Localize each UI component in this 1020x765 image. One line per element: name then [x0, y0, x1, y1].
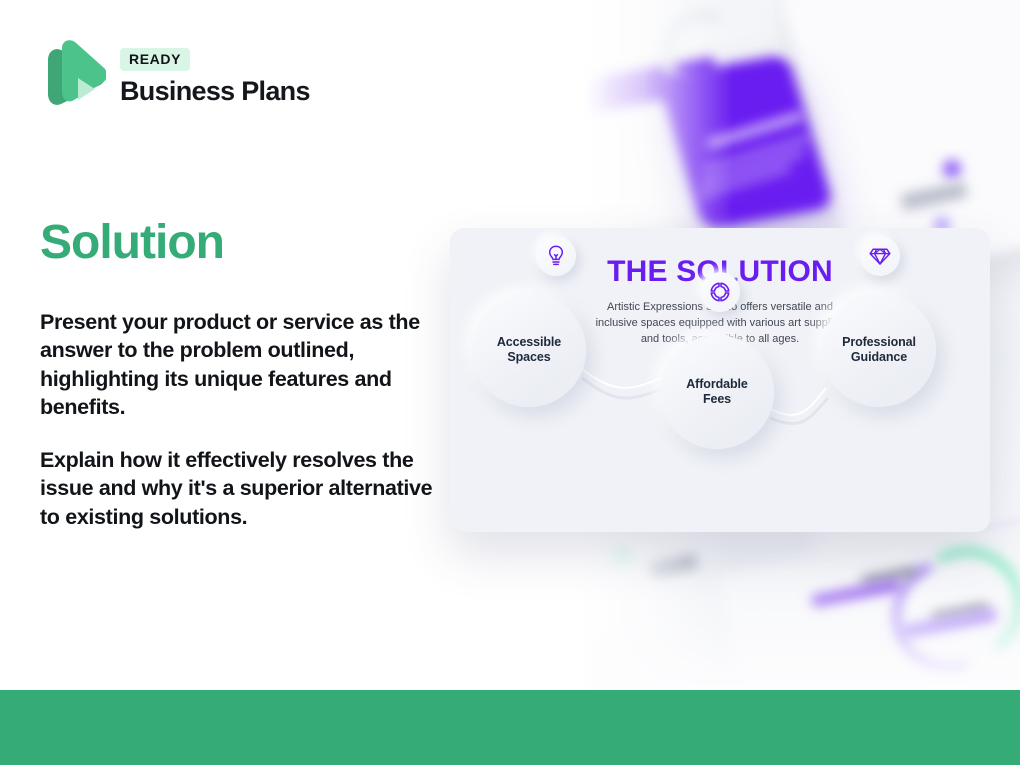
node-circle: Affordable Fees: [660, 335, 774, 449]
body-paragraph-2: Explain how it effectively resolves the …: [40, 446, 435, 531]
play-logo-icon: [40, 38, 106, 116]
body-paragraph-1: Present your product or service as the a…: [40, 308, 435, 422]
ready-badge: READY: [120, 48, 190, 71]
donut-chart-icon: [700, 272, 740, 312]
node-circle: Accessible Spaces: [472, 293, 586, 407]
brand-name: Business Plans: [120, 76, 310, 107]
node-label: Professional Guidance: [842, 335, 916, 366]
brand-logo[interactable]: READY Business Plans: [40, 38, 310, 116]
footer-band: [0, 690, 1020, 765]
node-label: Affordable Fees: [686, 377, 748, 408]
lightbulb-icon: [536, 236, 576, 276]
slide-root: READY Business Plans Solution Present yo…: [0, 0, 1020, 765]
node-circle: Professional Guidance: [822, 293, 936, 407]
solution-card: THE SOLUTION Artistic Expressions Studio…: [450, 228, 990, 532]
diamond-icon: [860, 236, 900, 276]
node-label: Accessible Spaces: [497, 335, 561, 366]
brand-text: READY Business Plans: [120, 48, 310, 107]
mockup-dot: [943, 160, 961, 178]
page-title: Solution: [40, 215, 224, 270]
backdrop-bottom-fade: [583, 560, 1020, 690]
